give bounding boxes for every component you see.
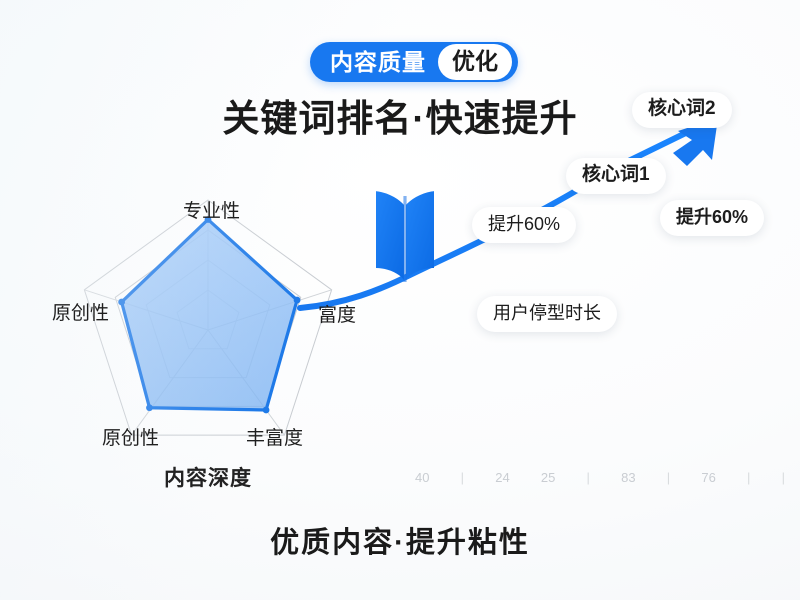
radar-label-top: 专业性 — [183, 196, 240, 223]
quality-badge: 内容质量 优化 — [310, 42, 518, 82]
pill-keyword-1[interactable]: 核心词1 — [566, 158, 666, 194]
axis-tick: | — [747, 470, 750, 485]
radar-label-bottom-right: 丰富度 — [246, 423, 303, 450]
badge-main-label: 内容质量 — [310, 42, 438, 82]
axis-tick: | — [782, 470, 785, 485]
faint-axis-strip: 40 | 24 25 | 83 | 76 | | — [415, 466, 785, 488]
axis-tick: 40 — [415, 470, 429, 485]
axis-tick: | — [667, 470, 670, 485]
radar-label-right: 富度 — [318, 300, 356, 327]
badge-chip-label: 优化 — [438, 44, 512, 80]
radar-label-left: 原创性 — [52, 298, 109, 325]
pill-uplift-right[interactable]: 提升60% — [660, 200, 764, 236]
axis-tick: | — [461, 470, 464, 485]
axis-tick: 24 — [495, 470, 509, 485]
axis-tick: 76 — [701, 470, 715, 485]
axis-tick: 25 — [541, 470, 555, 485]
page-subtitle: 优质内容·提升粘性 — [0, 519, 800, 561]
radar-label-bottom-left: 原创性 — [102, 423, 159, 450]
pill-dwell-time[interactable]: 用户停型时长 — [477, 296, 617, 332]
poster-canvas: 内容质量 优化 关键词排名·快速提升 优质内容·提升粘性 内容深度 — [0, 0, 800, 600]
content-depth-caption: 内容深度 — [164, 462, 252, 492]
open-book-icon — [375, 189, 435, 282]
axis-tick: 83 — [621, 470, 635, 485]
axis-tick: | — [587, 470, 590, 485]
pill-uplift-left[interactable]: 提升60% — [472, 207, 576, 243]
pill-keyword-2[interactable]: 核心词2 — [632, 92, 732, 128]
